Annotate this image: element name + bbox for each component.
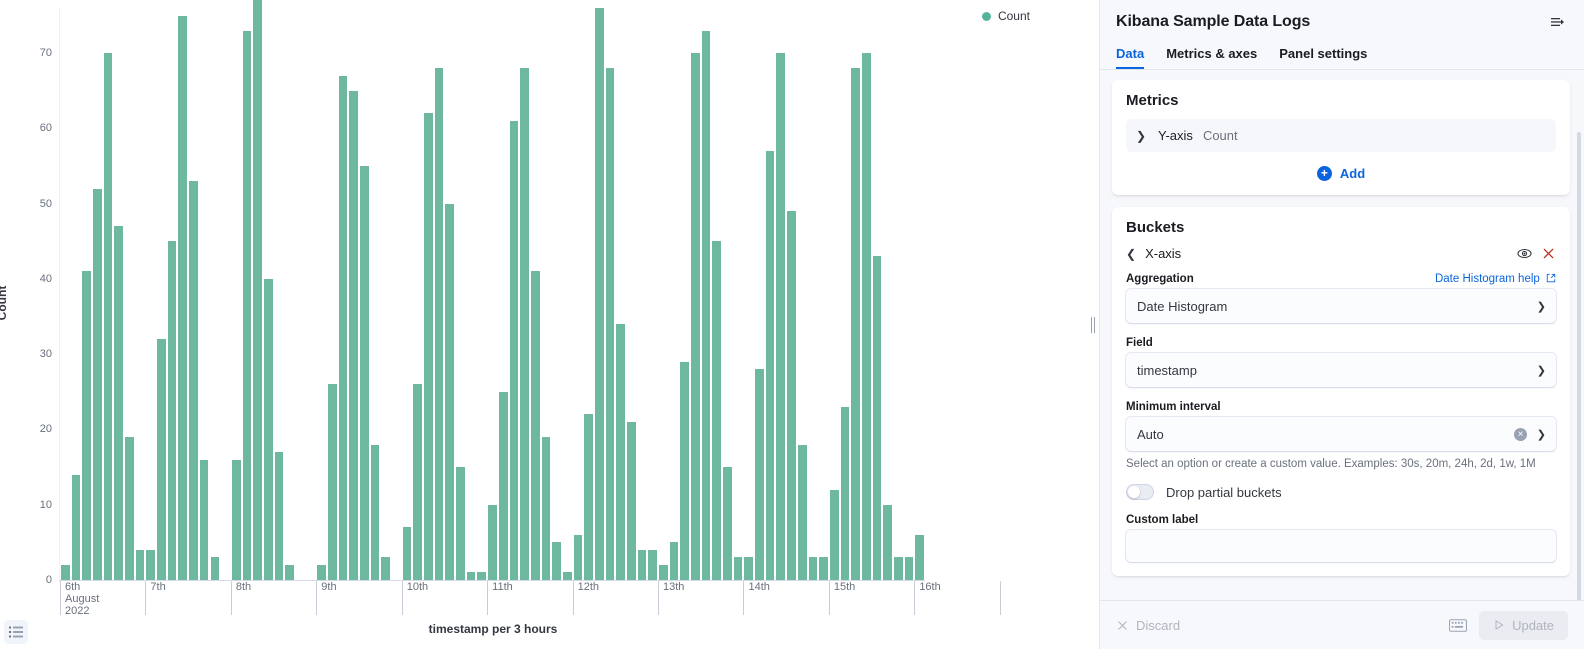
y-axis-tick-label: 10: [40, 499, 52, 511]
bar[interactable]: [327, 384, 338, 580]
tab-panel-settings[interactable]: Panel settings: [1279, 46, 1367, 69]
bar[interactable]: [167, 241, 178, 580]
list-icon: [9, 626, 23, 638]
x-axis-tick-label: 7th: [145, 581, 165, 615]
bar[interactable]: [551, 542, 562, 580]
bar[interactable]: [498, 392, 509, 580]
bar[interactable]: [669, 542, 680, 580]
bar[interactable]: [284, 565, 295, 580]
editor-footer: Discard Update: [1100, 600, 1584, 649]
bar[interactable]: [455, 467, 466, 580]
bar[interactable]: [786, 211, 797, 580]
bar[interactable]: [615, 324, 626, 580]
page-title: Kibana Sample Data Logs: [1116, 13, 1310, 31]
bar[interactable]: [370, 445, 381, 580]
bar[interactable]: [156, 339, 167, 580]
chart-pane: Count 010203040506070 Count 6thAugust202…: [0, 0, 1087, 649]
bar[interactable]: [316, 565, 327, 580]
field-label: Field: [1126, 337, 1556, 349]
drop-partial-buckets-row[interactable]: Drop partial buckets: [1126, 484, 1556, 500]
bar[interactable]: [882, 505, 893, 580]
tab-data[interactable]: Data: [1116, 46, 1144, 69]
x-axis-tick-label: 16th: [914, 581, 940, 615]
chevron-down-icon: ❮: [1126, 247, 1136, 261]
bar[interactable]: [487, 505, 498, 580]
chevron-right-icon: ❯: [1136, 129, 1148, 143]
x-axis-title: timestamp per 3 hours: [60, 622, 926, 636]
bar[interactable]: [530, 271, 541, 580]
bar[interactable]: [797, 445, 808, 580]
bucket-xaxis-label: X-axis: [1145, 246, 1181, 261]
x-axis-ticks: 6thAugust20227th8th9th10th11th12th13th14…: [60, 581, 926, 621]
bar[interactable]: [743, 557, 754, 580]
bar[interactable]: [647, 550, 658, 580]
bar[interactable]: [252, 0, 263, 580]
keyboard-icon: [1449, 619, 1467, 632]
editor-tabs: Data Metrics & axes Panel settings: [1116, 46, 1568, 69]
minimum-interval-combobox[interactable]: Auto × ❯: [1126, 417, 1556, 451]
bar[interactable]: [850, 68, 861, 580]
buckets-card: Buckets ❮ X-axis: [1112, 207, 1570, 576]
add-metric-label: Add: [1340, 166, 1365, 181]
bar[interactable]: [679, 362, 690, 580]
bar[interactable]: [402, 527, 413, 580]
x-axis-tick-label: 9th: [316, 581, 336, 615]
toggle-visibility-button[interactable]: [1517, 246, 1532, 261]
y-axis-tick-label: 40: [40, 273, 52, 285]
eye-icon: [1517, 246, 1532, 261]
y-axis-tick-label: 30: [40, 348, 52, 360]
bar[interactable]: [754, 369, 765, 580]
editor-header: Kibana Sample Data Logs Data Metrics & a…: [1100, 0, 1584, 70]
update-label: Update: [1512, 618, 1554, 633]
bar[interactable]: [765, 151, 776, 580]
bar[interactable]: [573, 535, 584, 580]
x-axis-tick-label: 12th: [573, 581, 599, 615]
bar[interactable]: [92, 189, 103, 580]
bar[interactable]: [380, 557, 391, 580]
bar[interactable]: [722, 467, 733, 580]
chevron-down-icon: ❯: [1537, 364, 1546, 377]
external-link-icon: [1546, 273, 1556, 283]
menu-right-icon: [1550, 14, 1566, 30]
drop-partial-buckets-label: Drop partial buckets: [1166, 485, 1282, 500]
metric-row-y-axis[interactable]: ❯ Y-axis Count: [1126, 119, 1556, 152]
bar[interactable]: [701, 31, 712, 580]
aggregation-select[interactable]: Date Histogram ❯: [1126, 289, 1556, 323]
bar[interactable]: [476, 572, 487, 580]
x-axis-tick-label: 6thAugust2022: [60, 581, 99, 615]
bar[interactable]: [113, 226, 124, 580]
x-axis-tick-label: 13th: [658, 581, 684, 615]
x-axis-end-tick: [1000, 581, 1005, 615]
panel-resize-handle[interactable]: [1087, 0, 1099, 649]
bar[interactable]: [242, 31, 253, 580]
bar[interactable]: [658, 565, 669, 580]
x-axis-tick-label: 11th: [487, 581, 513, 615]
minimum-interval-helptext: Select an option or create a custom valu…: [1126, 457, 1556, 472]
metric-label: Y-axis: [1158, 128, 1193, 143]
bar[interactable]: [434, 68, 445, 580]
bar[interactable]: [81, 271, 92, 580]
y-axis-tick-label: 50: [40, 198, 52, 210]
date-histogram-help-link[interactable]: Date Histogram help: [1435, 273, 1556, 285]
close-icon: [1541, 246, 1556, 261]
bar[interactable]: [359, 166, 370, 580]
bar[interactable]: [210, 557, 221, 580]
bar[interactable]: [444, 204, 455, 580]
discard-label: Discard: [1136, 618, 1180, 633]
plus-circle-icon: +: [1317, 166, 1332, 181]
bar[interactable]: [423, 113, 434, 580]
metric-value: Count: [1203, 128, 1238, 143]
editor-scrollbar[interactable]: [1577, 132, 1581, 600]
editor-title-row: Kibana Sample Data Logs: [1116, 12, 1568, 32]
legend-label: Count: [998, 9, 1030, 23]
y-axis-tick-label: 60: [40, 122, 52, 134]
bar[interactable]: [914, 535, 925, 580]
legend-color-dot: [982, 12, 991, 21]
legend-toggle-button[interactable]: [4, 620, 28, 644]
switch-knob: [1128, 486, 1140, 498]
x-axis-tick-label: 8th: [231, 581, 251, 615]
x-axis-tick-label: 14th: [743, 581, 769, 615]
metrics-title: Metrics: [1126, 92, 1556, 109]
bar[interactable]: [711, 241, 722, 580]
custom-label-label: Custom label: [1126, 514, 1556, 526]
bar[interactable]: [637, 550, 648, 580]
update-button[interactable]: Update: [1479, 611, 1568, 640]
chart-legend[interactable]: Count: [982, 9, 1030, 23]
bar[interactable]: [71, 475, 82, 580]
bar-series: [60, 8, 925, 580]
add-metric-button[interactable]: + Add: [1126, 166, 1556, 181]
field-value: timestamp: [1137, 363, 1197, 378]
y-axis-ticks: 010203040506070: [0, 0, 52, 649]
help-link-label: Date Histogram help: [1435, 273, 1540, 285]
keyboard-shortcuts-button[interactable]: [1447, 616, 1469, 634]
aggregation-value: Date Histogram: [1137, 299, 1227, 314]
chevron-down-icon: ❯: [1537, 300, 1546, 313]
bar[interactable]: [775, 53, 786, 580]
bar[interactable]: [188, 181, 199, 580]
editor-panel: Kibana Sample Data Logs Data Metrics & a…: [1099, 0, 1584, 649]
aggregation-label-row: Aggregation Date Histogram help: [1126, 273, 1556, 289]
bar[interactable]: [872, 256, 883, 580]
bar[interactable]: [412, 384, 423, 580]
bar[interactable]: [466, 572, 477, 580]
bar[interactable]: [893, 557, 904, 580]
bar[interactable]: [861, 53, 872, 580]
x-axis-tick-label: 10th: [402, 581, 428, 615]
bar[interactable]: [263, 279, 274, 580]
remove-bucket-button[interactable]: [1541, 246, 1556, 261]
bar[interactable]: [583, 414, 594, 580]
bar[interactable]: [103, 53, 114, 580]
play-icon: [1493, 619, 1505, 631]
y-axis-title: Count: [0, 286, 9, 321]
y-axis-tick-label: 20: [40, 423, 52, 435]
bar[interactable]: [829, 490, 840, 580]
minimum-interval-value: Auto: [1137, 427, 1164, 442]
clear-icon[interactable]: ×: [1514, 428, 1527, 441]
resize-grip-icon: [1091, 317, 1095, 333]
buckets-title: Buckets: [1126, 219, 1556, 236]
bar[interactable]: [605, 68, 616, 580]
bar[interactable]: [231, 460, 242, 580]
bar[interactable]: [145, 550, 156, 580]
bar[interactable]: [840, 407, 851, 580]
tab-metrics-axes[interactable]: Metrics & axes: [1166, 46, 1257, 69]
field-select[interactable]: timestamp ❯: [1126, 353, 1556, 387]
bar[interactable]: [135, 550, 146, 580]
bar[interactable]: [562, 572, 573, 580]
aggregation-label: Aggregation: [1126, 273, 1194, 285]
bar[interactable]: [541, 437, 552, 580]
bar[interactable]: [808, 557, 819, 580]
bar[interactable]: [733, 557, 744, 580]
bucket-xaxis-header[interactable]: ❮ X-axis: [1126, 246, 1556, 261]
y-axis-tick-label: 0: [46, 574, 52, 586]
bar[interactable]: [199, 460, 210, 580]
bar[interactable]: [818, 557, 829, 580]
collapse-panel-button[interactable]: [1548, 12, 1568, 32]
bar[interactable]: [338, 76, 349, 580]
bar[interactable]: [904, 557, 915, 580]
x-axis-tick-label: 15th: [829, 581, 855, 615]
bar[interactable]: [274, 452, 285, 580]
bar[interactable]: [509, 121, 520, 580]
chevron-down-icon: ❯: [1537, 428, 1546, 441]
drop-partial-buckets-switch[interactable]: [1126, 484, 1154, 500]
bar[interactable]: [690, 53, 701, 580]
close-icon: [1116, 619, 1129, 632]
bar[interactable]: [519, 68, 530, 580]
bar[interactable]: [594, 8, 605, 580]
editor-body[interactable]: Metrics ❯ Y-axis Count + Add Buckets ❮ X…: [1100, 70, 1584, 600]
bar[interactable]: [348, 91, 359, 580]
custom-label-input[interactable]: [1126, 530, 1556, 562]
visualize-editor-app: Count 010203040506070 Count 6thAugust202…: [0, 0, 1584, 649]
bar[interactable]: [626, 422, 637, 580]
bar[interactable]: [60, 565, 71, 580]
bar[interactable]: [124, 437, 135, 580]
discard-button[interactable]: Discard: [1116, 618, 1180, 633]
minimum-interval-label: Minimum interval: [1126, 401, 1556, 413]
y-axis-tick-label: 70: [40, 47, 52, 59]
metrics-card: Metrics ❯ Y-axis Count + Add: [1112, 80, 1570, 195]
bar[interactable]: [177, 16, 188, 580]
